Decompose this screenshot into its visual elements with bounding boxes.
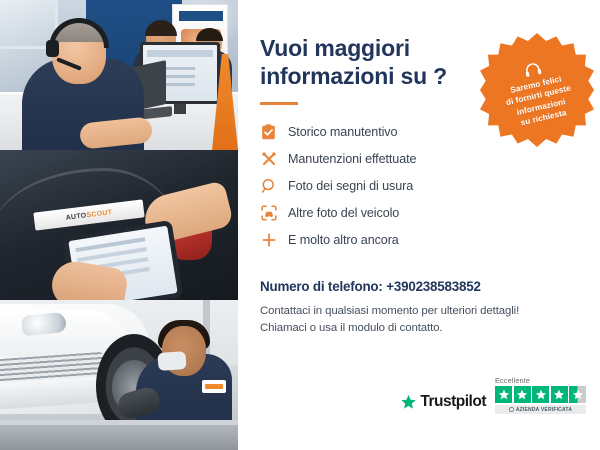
- plate-prefix-text: AUTO: [65, 212, 87, 221]
- star-half-5: [569, 386, 586, 403]
- trustpilot-star-icon: [400, 394, 417, 411]
- phone-line: Numero di telefono: +390238583852: [260, 279, 578, 294]
- trustpilot-rating-label: Eccellente: [495, 376, 530, 385]
- star-filled-4: [551, 386, 568, 403]
- trustpilot-brand: Trustpilot: [400, 393, 486, 414]
- lift-platform: [0, 420, 238, 450]
- feature-label: Manutenzioni effettuate: [288, 152, 416, 166]
- trustpilot-verified-text: AZIENDA VERIFICATA: [516, 407, 572, 413]
- feature-item-manutenzioni-effettuate[interactable]: Manutenzioni effettuate: [260, 145, 578, 172]
- feature-label: E molto altro ancora: [288, 233, 399, 247]
- headset-icon: [522, 61, 542, 78]
- mechanic-wheel-lift-photo: [0, 300, 238, 450]
- trustpilot-stars: [495, 386, 586, 403]
- trustpilot-wordmark: Trustpilot: [420, 393, 486, 411]
- phone-block: Numero di telefono: +390238583852 Contat…: [260, 279, 578, 337]
- contact-copy: Contattaci in qualsiasi momento per ulte…: [260, 303, 578, 337]
- trustpilot-rating: Eccellente: [495, 376, 586, 415]
- scan-frame-car-icon: [260, 204, 277, 221]
- title-underline-divider: [260, 102, 298, 105]
- call-center-operators-photo: [0, 0, 238, 150]
- car-inspection-tablet-photo: AUTOSCOUT: [0, 150, 238, 300]
- availability-badge: Saremo felici di fornirti queste informa…: [480, 33, 594, 147]
- star-filled-1: [495, 386, 512, 403]
- trustpilot-widget[interactable]: Trustpilot Eccellente: [400, 376, 586, 415]
- feature-label: Storico manutentivo: [288, 125, 397, 139]
- vehicle-info-promo-card: AUTOSCOUT: [0, 0, 600, 450]
- uniform-logo-badge: [202, 380, 226, 393]
- feature-label: Altre foto del veicolo: [288, 206, 399, 220]
- trustpilot-verified-badge: AZIENDA VERIFICATA: [495, 405, 586, 414]
- content-panel: Vuoi maggiori informazioni su ? Saremo f…: [238, 0, 600, 450]
- phone-label: Numero di telefono:: [260, 279, 383, 294]
- feature-label: Foto dei segni di usura: [288, 179, 413, 193]
- plate-suffix-text: SCOUT: [86, 209, 113, 219]
- feature-item-foto-segni-usura[interactable]: Foto dei segni di usura: [260, 172, 578, 199]
- feature-item-molto-altro[interactable]: E molto altro ancora: [260, 226, 578, 253]
- headset-operator: [22, 16, 144, 150]
- magnifier-icon: [260, 177, 277, 194]
- clipboard-check-icon: [260, 123, 277, 140]
- phone-number[interactable]: +390238583852: [386, 279, 481, 294]
- photo-column: AUTOSCOUT: [0, 0, 238, 450]
- page-title: Vuoi maggiori informazioni su ?: [260, 34, 470, 90]
- tools-cross-icon: [260, 150, 277, 167]
- star-filled-2: [514, 386, 531, 403]
- feature-item-altre-foto-veicolo[interactable]: Altre foto del veicolo: [260, 199, 578, 226]
- star-filled-3: [532, 386, 549, 403]
- verified-check-icon: [509, 407, 514, 412]
- plus-icon: [260, 231, 277, 248]
